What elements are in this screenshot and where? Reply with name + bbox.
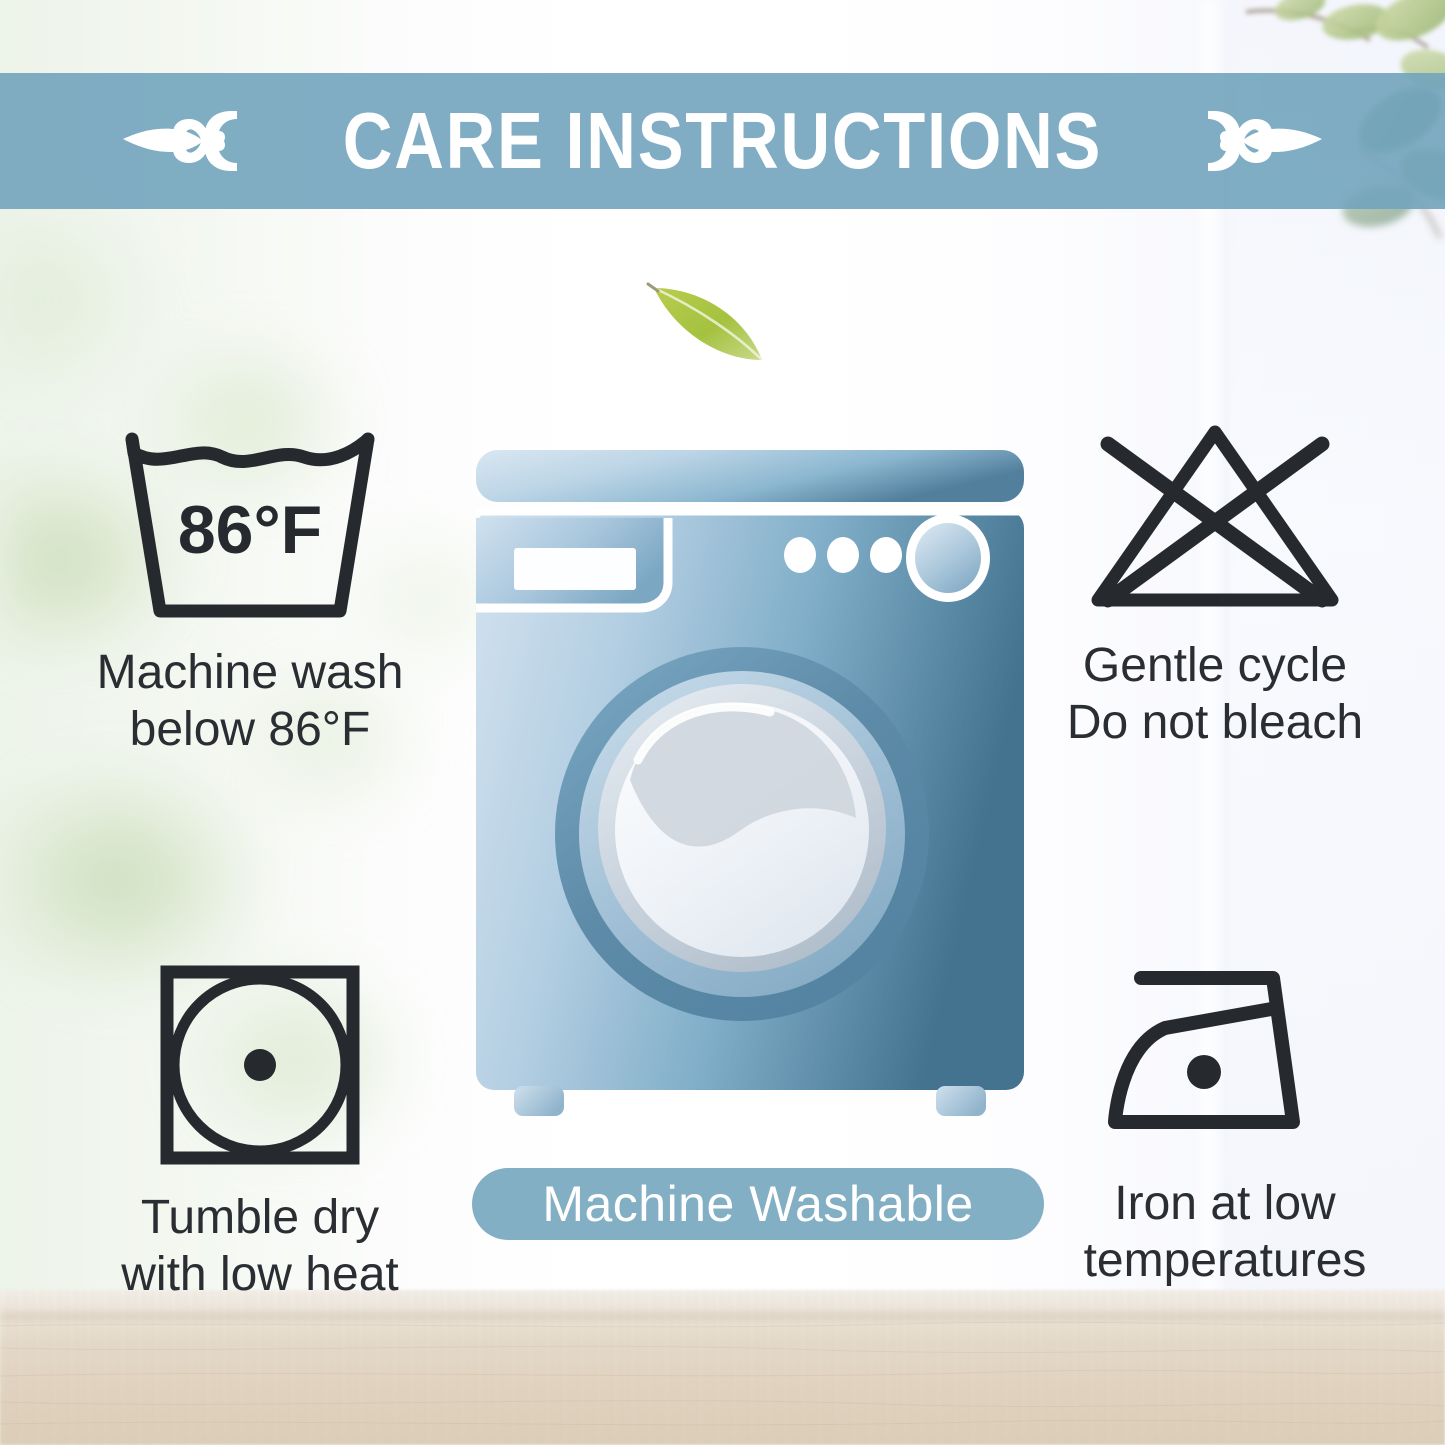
caption-line-2: below 86°F (97, 702, 404, 759)
washer-lid (476, 450, 1024, 502)
washer-door[interactable] (555, 647, 929, 1021)
caption-line-2: temperatures (1084, 1233, 1367, 1290)
care-item-machine-wash: 86°F Machine wash below 86°F (20, 425, 480, 758)
washer-feet (514, 1086, 986, 1116)
caption-line-2: with low heat (121, 1247, 398, 1304)
care-caption-do-not-bleach: Gentle cycle Do not bleach (1067, 638, 1363, 751)
wash-tub-icon: 86°F (116, 425, 384, 625)
header-banner: CARE INSTRUCTIONS (0, 73, 1445, 209)
care-caption-iron-low: Iron at low temperatures (1084, 1176, 1367, 1289)
iron-low-heat-icon (1101, 962, 1349, 1148)
care-instructions-infographic: CARE INSTRUCTIONS 86°F Machine wash belo… (0, 0, 1445, 1445)
care-item-iron-low: Iron at low temperatures (1010, 962, 1440, 1289)
caption-line-1: Tumble dry (121, 1190, 398, 1247)
caption-line-2: Do not bleach (1067, 695, 1363, 752)
care-caption-machine-wash: Machine wash below 86°F (97, 645, 404, 758)
fleur-de-lis-icon-left (113, 91, 241, 191)
tumble-dry-low-icon (155, 962, 365, 1168)
care-item-tumble-dry: Tumble dry with low heat (40, 962, 480, 1303)
washer-foot-left (514, 1086, 564, 1116)
care-caption-tumble-dry: Tumble dry with low heat (121, 1190, 398, 1303)
background-wood-grain (0, 1290, 1445, 1445)
washing-machine-illustration (470, 440, 1030, 1130)
caption-line-1: Iron at low (1084, 1176, 1367, 1233)
fleur-de-lis-icon-right (1204, 91, 1332, 191)
control-dial-knob[interactable] (906, 514, 990, 602)
indicator-lights (784, 537, 902, 573)
falling-leaf-icon (640, 268, 800, 378)
crossed-triangle-icon (1084, 418, 1346, 614)
caption-line-1: Gentle cycle (1067, 638, 1363, 695)
caption-line-1: Machine wash (97, 645, 404, 702)
badge-label: Machine Washable (542, 1175, 973, 1233)
machine-washable-badge: Machine Washable (472, 1168, 1044, 1240)
wash-temperature-value: 86°F (178, 492, 322, 568)
washer-foot-right (936, 1086, 986, 1116)
page-title: CARE INSTRUCTIONS (343, 101, 1102, 181)
care-item-do-not-bleach: Gentle cycle Do not bleach (1000, 418, 1430, 751)
